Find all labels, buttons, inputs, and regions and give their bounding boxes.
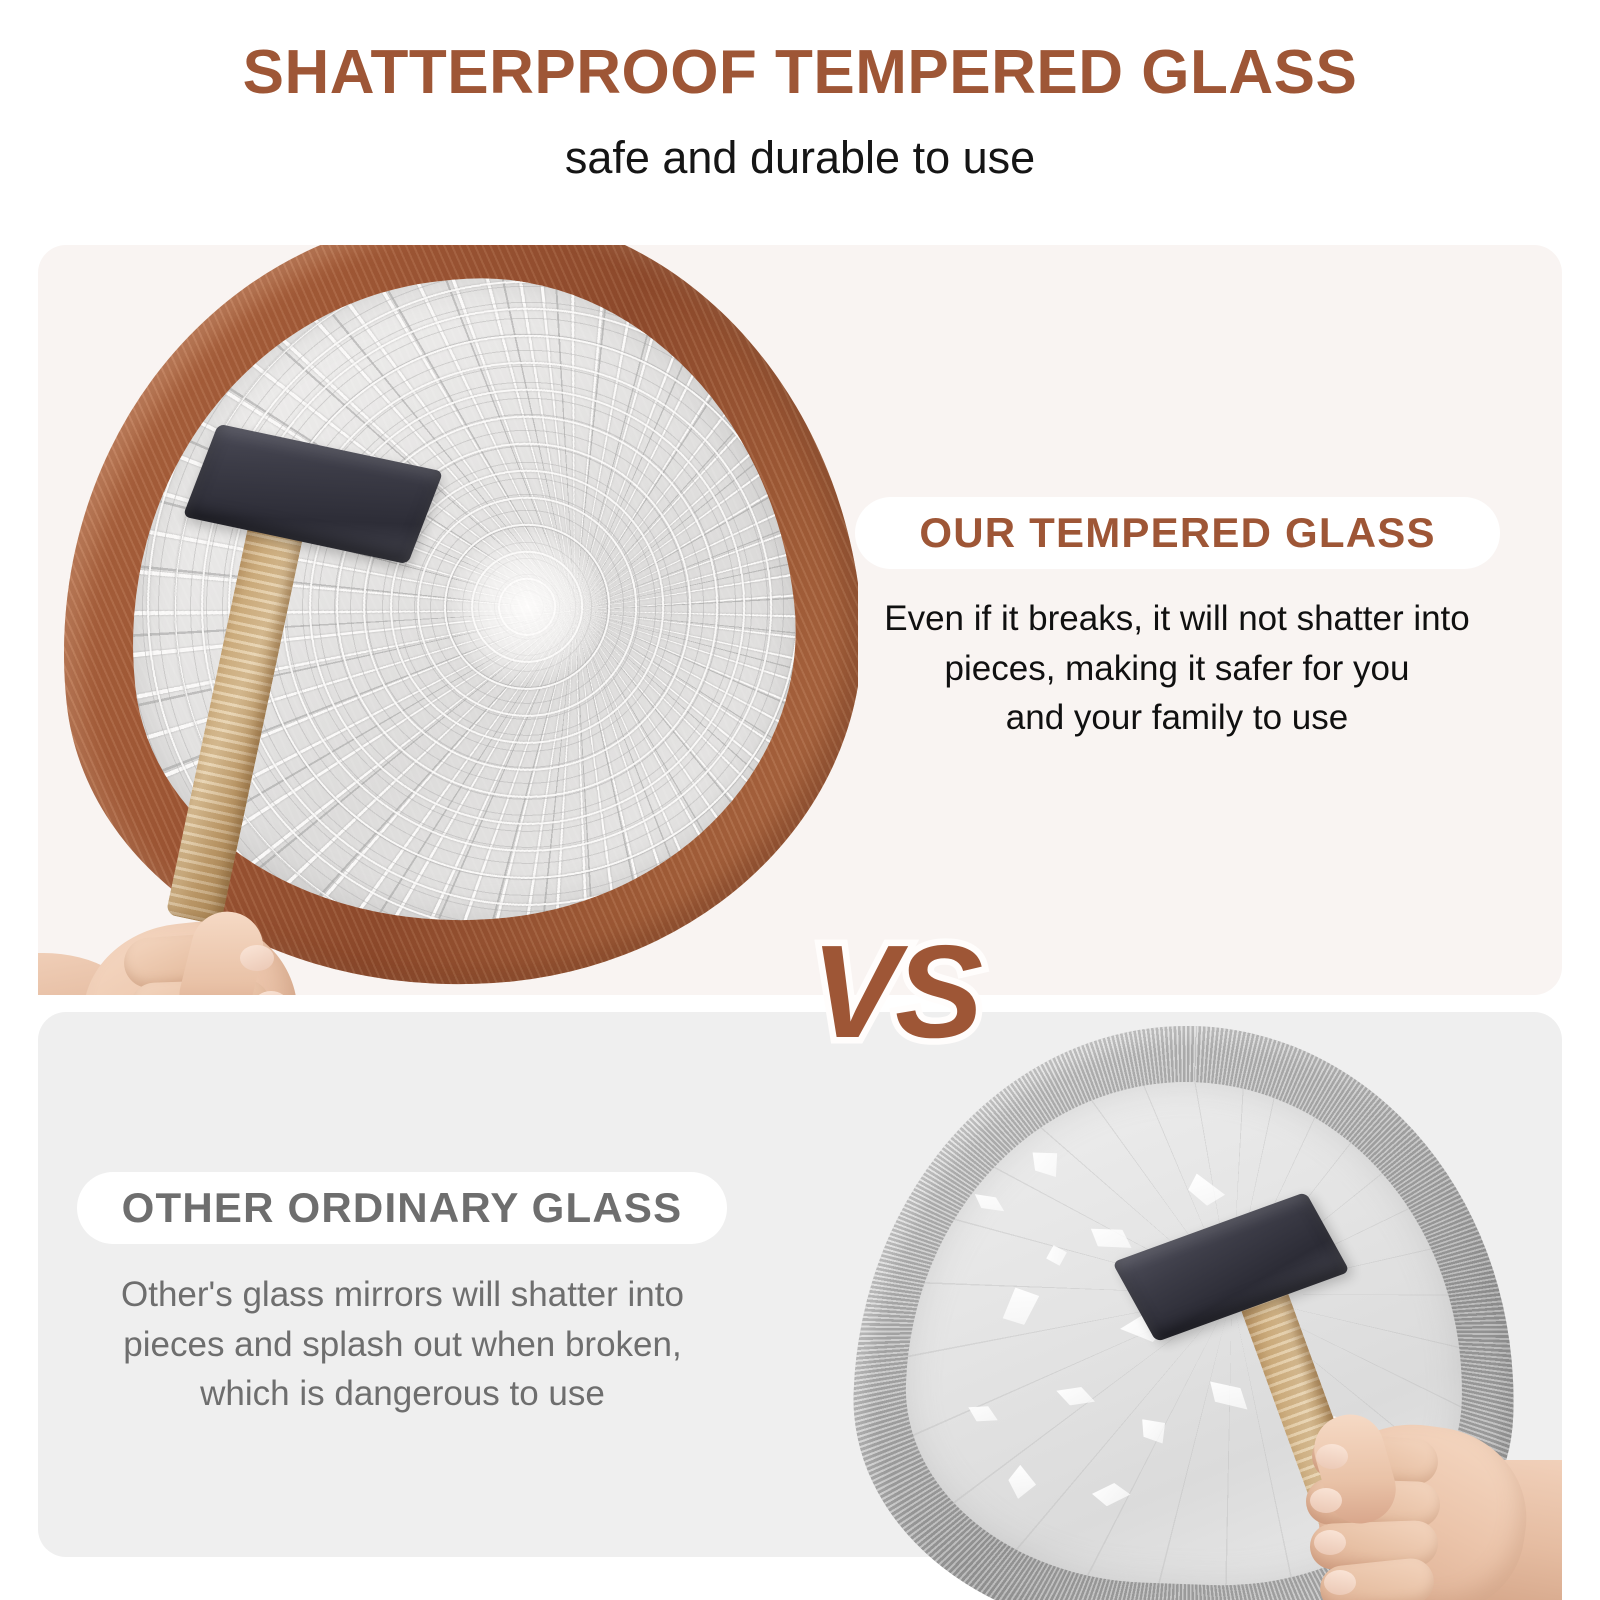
fingernail — [1310, 1488, 1342, 1513]
vs-divider-badge: VS — [800, 912, 990, 1072]
badge-our-tempered-glass: OUR TEMPERED GLASS — [855, 497, 1500, 569]
fingernail — [240, 945, 274, 971]
badge-other-ordinary-glass: OTHER ORDINARY GLASS — [77, 1172, 727, 1244]
infographic-page: SHATTERPROOF TEMPERED GLASS safe and dur… — [0, 0, 1600, 1600]
ordinary-glass-description: Other's glass mirrors will shatter into … — [80, 1270, 725, 1419]
description-line: pieces and splash out when broken, — [80, 1320, 725, 1370]
wooden-mirror-graphic — [38, 245, 858, 995]
description-line: Other's glass mirrors will shatter into — [80, 1270, 725, 1320]
description-line: pieces, making it safer for you — [862, 644, 1492, 694]
page-title: SHATTERPROOF TEMPERED GLASS — [0, 40, 1600, 105]
tempered-glass-description: Even if it breaks, it will not shatter i… — [862, 594, 1492, 743]
tempered-glass-photo — [38, 245, 858, 995]
fingernail — [1314, 1530, 1346, 1555]
description-line: and your family to use — [862, 693, 1492, 743]
description-line: which is dangerous to use — [80, 1369, 725, 1419]
ordinary-glass-photo — [820, 1012, 1562, 1600]
fingernail — [1324, 1570, 1356, 1595]
fingernail — [1316, 1444, 1348, 1469]
description-line: Even if it breaks, it will not shatter i… — [862, 594, 1492, 644]
page-subtitle: safe and durable to use — [0, 133, 1600, 183]
